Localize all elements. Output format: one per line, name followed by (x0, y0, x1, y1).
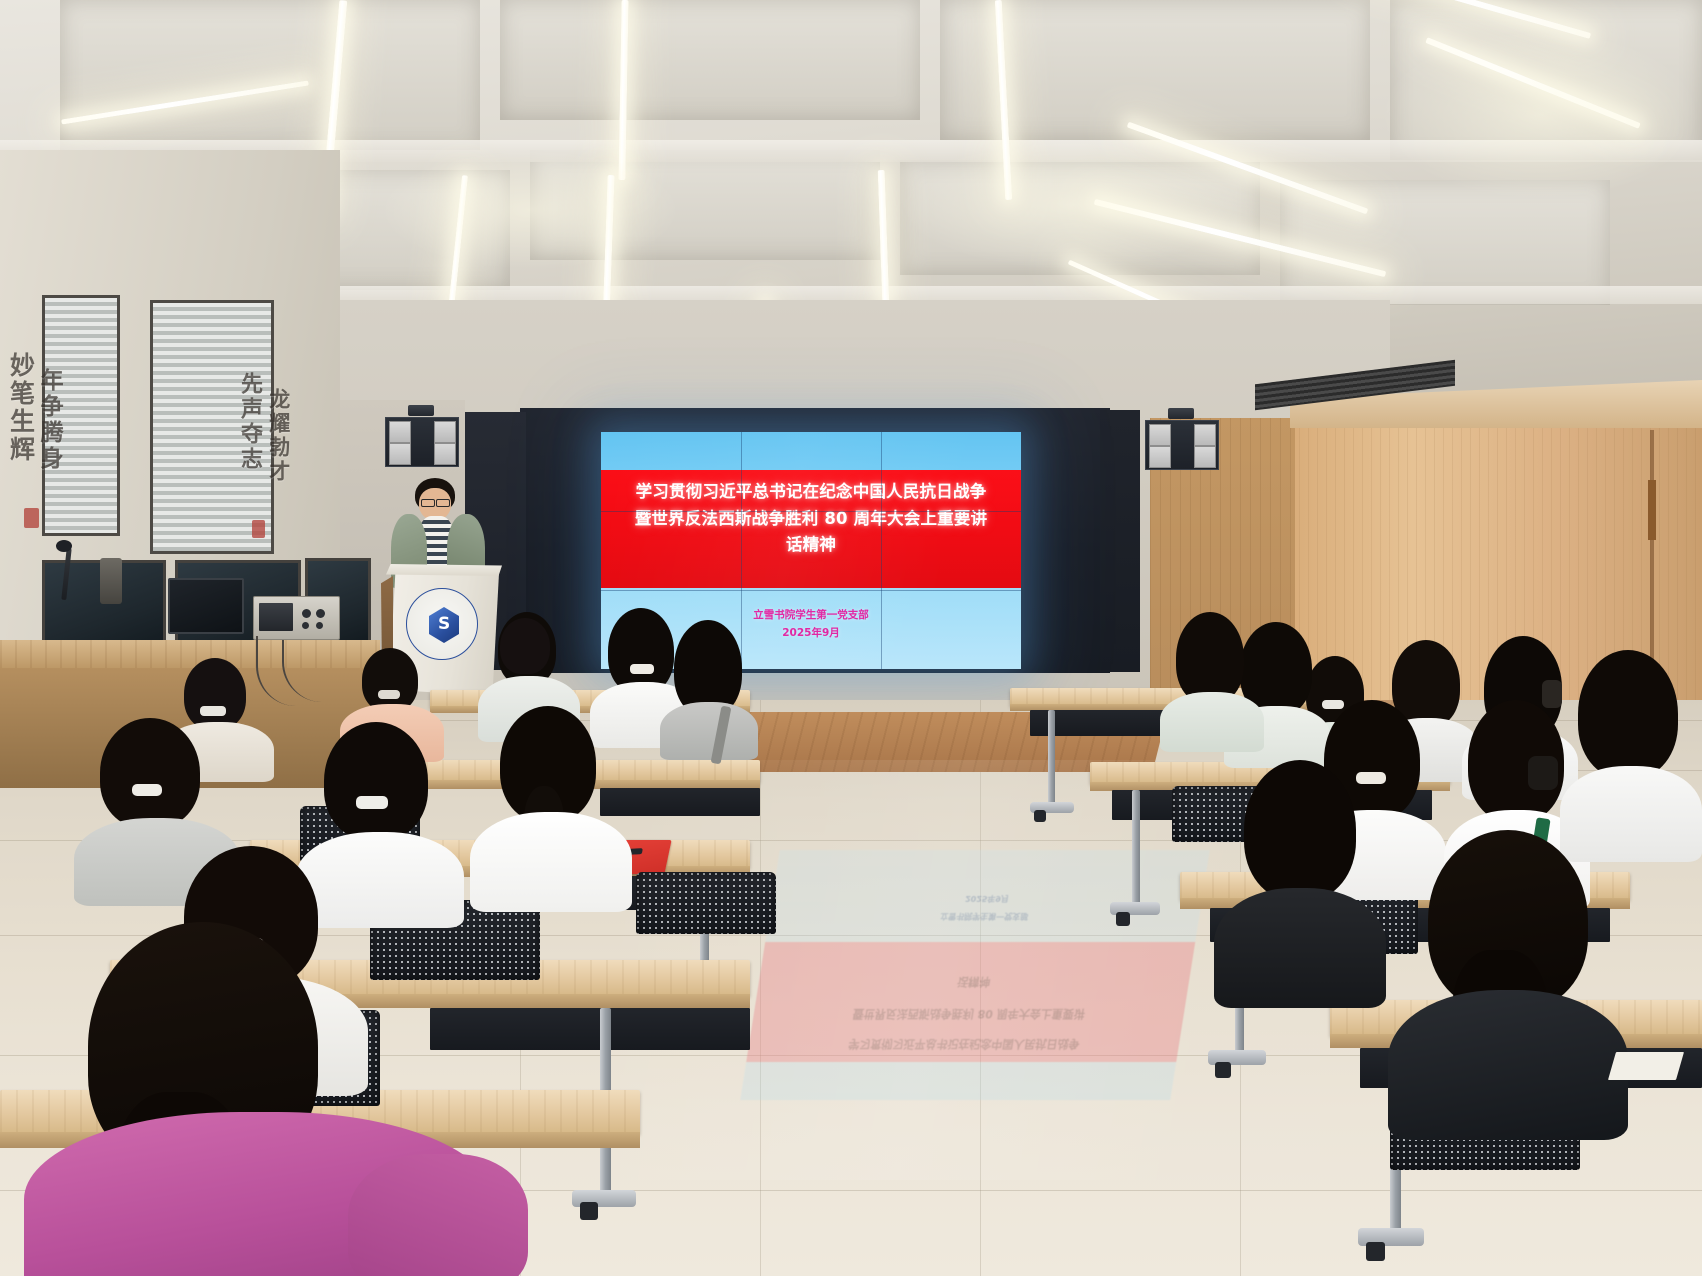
presenter-glasses-right (436, 499, 450, 507)
student-ponytail-tie (200, 706, 226, 716)
student-hair (324, 722, 428, 840)
student-ponytail-tie (132, 784, 162, 796)
student-top (1160, 692, 1264, 752)
presenter-glasses-left (421, 499, 435, 507)
student-l6 (480, 616, 576, 716)
speaker-left-grille-top (389, 421, 411, 443)
desk-caster (1034, 810, 1046, 822)
podium-top-surface (386, 564, 502, 576)
student-ponytail-tie (630, 664, 654, 674)
student-dark-top (1388, 990, 1628, 1140)
wall-calligraphy-col-4: 龙耀勃才 (266, 388, 291, 560)
front-wall-right-panel (1100, 410, 1140, 672)
desk-leg (1132, 790, 1140, 908)
desk-leg (1048, 710, 1055, 806)
chair-left-b[interactable] (636, 872, 776, 934)
speaker-left-grille-bottom2 (434, 443, 456, 465)
student-dark-top (1214, 888, 1386, 1008)
student-ponytail-tie (378, 690, 400, 699)
av-mixer-unit[interactable] (253, 596, 340, 640)
student-foreground-pink (18, 922, 538, 1276)
desk-caster (1215, 1062, 1231, 1078)
student-r8 (1560, 650, 1702, 850)
student-r9 (1214, 760, 1390, 990)
speaker-left-grille-bottom (389, 443, 411, 465)
calligraphy-seal-left (24, 508, 39, 528)
student-hair (1244, 760, 1356, 900)
student-top (470, 812, 632, 912)
desk-caster (580, 1202, 598, 1220)
thermos-bottle (100, 558, 122, 604)
student-hair (1176, 612, 1244, 704)
speaker-right-grille-bottom (1149, 446, 1171, 468)
student-r5 (1160, 612, 1270, 742)
door-handle (1648, 480, 1656, 540)
student-r10 (1388, 830, 1638, 1130)
calligraphy-seal-right (252, 520, 265, 538)
wall-calligraphy-col-2: 年争腾身 (36, 368, 63, 553)
student-hair (1578, 650, 1678, 778)
desk-caster (1116, 912, 1130, 926)
student-scrunchie (1528, 756, 1558, 790)
classroom-photo-scene: 妙笔生辉 年争腾身 先声夺志 龙耀勃才 学习贯彻习近平总书记在纪念中国人民抗日战… (0, 0, 1702, 1276)
speaker-right-grille-top2 (1194, 424, 1216, 446)
projector-mount-right (1168, 408, 1194, 419)
speaker-left-grille-top2 (434, 421, 456, 443)
student-hair (100, 718, 200, 828)
microphone-head (56, 540, 72, 552)
student-l9 (470, 706, 640, 886)
student-hair (362, 648, 418, 712)
speaker-right-grille-bottom2 (1194, 446, 1216, 468)
student-arm (348, 1154, 528, 1276)
speaker-right-grille-top (1149, 424, 1171, 446)
desk-caster (1366, 1242, 1385, 1261)
student-ponytail-tie (356, 796, 388, 809)
emblem-letter: S (438, 616, 450, 633)
control-monitor[interactable] (168, 578, 244, 634)
student-hair (500, 618, 550, 674)
projector-mount-left (408, 405, 434, 416)
student-top (660, 702, 758, 760)
paper-on-desk (1608, 1052, 1684, 1080)
student-l5 (660, 620, 760, 746)
